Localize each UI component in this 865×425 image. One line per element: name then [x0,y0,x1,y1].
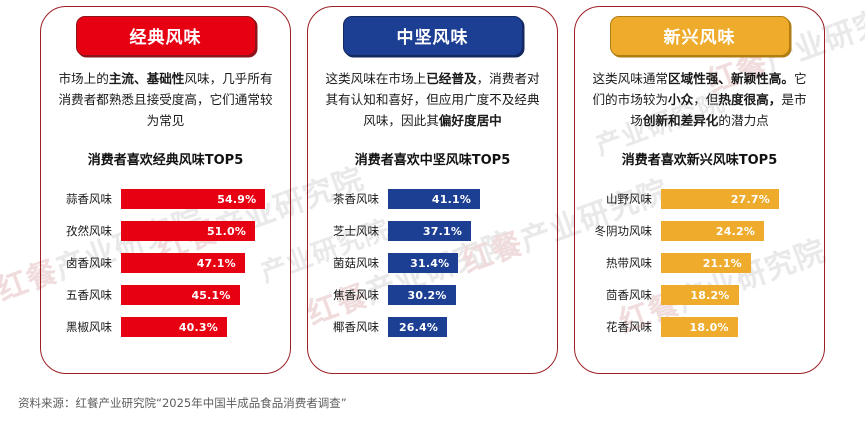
chart-row-label: 茶香风味 [318,191,388,207]
description-run-0: 这类风味在市场上 [325,71,426,86]
chart-bar-value: 31.4% [410,257,449,270]
chart-row-label: 五香风味 [51,287,121,303]
chart-row-label: 热带风味 [585,255,661,271]
chart-title-classic: 消费者喜欢经典风味TOP5 [88,149,244,168]
chart-bar: 47.1% [121,253,245,273]
chart-bar: 31.4% [388,253,458,273]
chart-row: 花香风味18.0% [585,312,814,342]
chart-title-core: 消费者喜欢中坚风味TOP5 [355,149,511,168]
flavor-card-classic: 经典风味 市场上的主流、基础性风味，几乎所有消费者都熟悉且接受度高，它们通常较为… [40,6,291,374]
chart-bar-value: 18.2% [690,289,729,302]
flavor-card-list: 经典风味 市场上的主流、基础性风味，几乎所有消费者都熟悉且接受度高，它们通常较为… [0,0,865,378]
chart-row: 山野风味27.7% [585,184,814,214]
card-description-emerging: 这类风味通常区域性强、新颖性高。它们的市场较为小众，但热度很高，是市场创新和差异… [589,69,810,131]
chart-row: 焦香风味30.2% [318,280,547,310]
chart-row: 茶香风味41.1% [318,184,547,214]
bar-chart-core: 茶香风味41.1%芝士风味37.1%菌菇风味31.4%焦香风味30.2%椰香风味… [308,184,557,344]
chart-row: 热带风味21.1% [585,248,814,278]
chart-bar: 27.7% [661,189,779,209]
chart-row: 菌菇风味31.4% [318,248,547,278]
chart-bar: 54.9% [121,189,265,209]
infographic-board: 经典风味 市场上的主流、基础性风味，几乎所有消费者都熟悉且接受度高，它们通常较为… [0,0,865,425]
chart-row-label: 茴香风味 [585,287,661,303]
source-note: 资料来源：红餐产业研究院“2025年中国半成品食品消费者调查” [18,395,347,411]
chart-row-label: 花香风味 [585,319,661,335]
chart-row-label: 菌菇风味 [318,255,388,271]
chart-row: 冬阴功风味24.2% [585,216,814,246]
card-badge-classic: 经典风味 [76,16,256,56]
chart-bar: 26.4% [388,317,447,337]
card-badge-core: 中坚风味 [343,16,523,56]
badge-wrapper: 新兴风味 [610,16,790,56]
card-description-classic: 市场上的主流、基础性风味，几乎所有消费者都熟悉且接受度高，它们通常较为常见 [55,69,276,131]
chart-row-label: 椰香风味 [318,319,388,335]
description-run-1: 已经普及 [426,71,476,86]
chart-bar: 45.1% [121,285,240,305]
chart-bar: 41.1% [388,189,480,209]
flavor-card-emerging: 新兴风味 这类风味通常区域性强、新颖性高。它们的市场较为小众，但热度很高，是市场… [574,6,825,374]
chart-bar: 18.0% [661,317,738,337]
card-badge-emerging: 新兴风味 [610,16,790,56]
chart-row: 椰香风味26.4% [318,312,547,342]
chart-bar-value: 18.0% [690,321,729,334]
description-run-8: 的潜力点 [718,113,768,128]
chart-row: 黑椒风味40.3% [51,312,280,342]
chart-bar: 40.3% [121,317,227,337]
badge-wrapper: 中坚风味 [343,16,523,56]
chart-bar: 24.2% [661,221,764,241]
chart-bar: 30.2% [388,285,456,305]
chart-row: 蒜香风味54.9% [51,184,280,214]
description-run-4: ，但 [693,92,718,107]
chart-bar: 18.2% [661,285,739,305]
chart-row-label: 焦香风味 [318,287,388,303]
description-run-1: 区域性强、新颖性高。 [668,71,794,86]
chart-bar-value: 47.1% [197,257,236,270]
card-description-core: 这类风味在市场上已经普及，消费者对其有认知和喜好，但应用广度不及经典风味，因此其… [322,69,543,131]
chart-row-label: 芝士风味 [318,223,388,239]
chart-bar-value: 24.2% [716,225,755,238]
bar-chart-classic: 蒜香风味54.9%孜然风味51.0%卤香风味47.1%五香风味45.1%黑椒风味… [41,184,290,344]
description-run-0: 这类风味通常 [592,71,668,86]
chart-row-label: 黑椒风味 [51,319,121,335]
chart-row: 五香风味45.1% [51,280,280,310]
chart-bar-value: 54.9% [217,193,256,206]
description-run-3: 偏好度居中 [439,113,502,128]
chart-bar-value: 37.1% [423,225,462,238]
bar-chart-emerging: 山野风味27.7%冬阴功风味24.2%热带风味21.1%茴香风味18.2%花香风… [575,184,824,344]
chart-row-label: 山野风味 [585,191,661,207]
chart-bar: 51.0% [121,221,255,241]
flavor-card-core: 中坚风味 这类风味在市场上已经普及，消费者对其有认知和喜好，但应用广度不及经典风… [307,6,558,374]
chart-bar-value: 30.2% [407,289,446,302]
chart-bar-value: 45.1% [191,289,230,302]
chart-bar: 21.1% [661,253,751,273]
description-run-7: 创新和差异化 [643,113,719,128]
chart-row: 孜然风味51.0% [51,216,280,246]
chart-row-label: 蒜香风味 [51,191,121,207]
description-run-3: 小众 [668,92,693,107]
chart-bar-value: 41.1% [432,193,471,206]
badge-wrapper: 经典风味 [76,16,256,56]
chart-bar-value: 26.4% [399,321,438,334]
chart-bar: 37.1% [388,221,471,241]
chart-title-emerging: 消费者喜欢新兴风味TOP5 [622,149,778,168]
chart-row: 卤香风味47.1% [51,248,280,278]
chart-row: 茴香风味18.2% [585,280,814,310]
chart-row-label: 冬阴功风味 [585,223,661,239]
chart-row-label: 卤香风味 [51,255,121,271]
description-run-5: 热度很高， [718,92,781,107]
chart-bar-value: 21.1% [703,257,742,270]
chart-row-label: 孜然风味 [51,223,121,239]
chart-bar-value: 27.7% [731,193,770,206]
description-run-0: 市场上的 [58,71,108,86]
chart-bar-value: 51.0% [207,225,246,238]
chart-bar-value: 40.3% [179,321,218,334]
chart-row: 芝士风味37.1% [318,216,547,246]
description-run-1: 主流、基础性 [109,71,185,86]
